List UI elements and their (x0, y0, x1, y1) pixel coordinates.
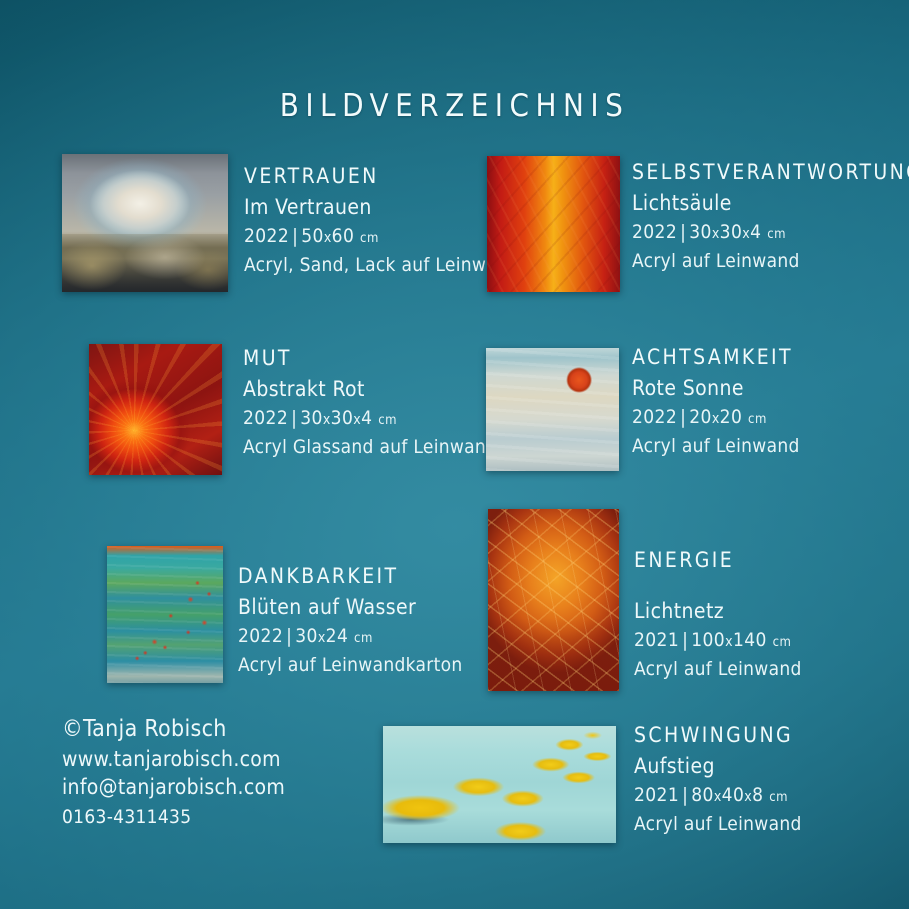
artwork-title: ENERGIE (634, 549, 802, 571)
page-title: BILDVERZEICHNIS (0, 88, 909, 124)
artwork-subtitle: Rote Sonne (632, 377, 800, 399)
red-sun-painting (486, 348, 619, 471)
artwork-year: 2021 (634, 629, 679, 651)
dimension-separator: | (288, 407, 300, 429)
artwork-subtitle: Blüten auf Wasser (238, 596, 463, 618)
dimension-times-2: x (744, 789, 752, 805)
dimension-times-1: x (712, 411, 720, 427)
artwork-dimensions: 2021|100x140 cm (634, 631, 802, 651)
dimension-separator: | (289, 225, 301, 247)
artwork-dimensions: 2022|30x30x4 cm (243, 409, 497, 429)
artwork-image-schwingung[interactable] (383, 726, 616, 843)
artwork-subtitle: Im Vertrauen (244, 196, 519, 218)
artwork-image-selbstverantwortung[interactable] (487, 156, 620, 292)
artwork-year: 2022 (243, 407, 288, 429)
artwork-title: DANKBARKEIT (238, 565, 463, 587)
phone-number[interactable]: 0163-4311435 (62, 808, 285, 827)
artwork-year: 2022 (244, 225, 289, 247)
dimension-unit: cm (769, 790, 788, 805)
dimension-times-2: x (742, 226, 750, 242)
dimension-unit: cm (378, 413, 397, 428)
artwork-material: Acryl auf Leinwandkarton (238, 656, 463, 676)
artwork-subtitle: Lichtnetz (634, 600, 802, 622)
website-link[interactable]: www.tanjarobisch.com (62, 749, 285, 770)
artwork-caption-selbstverantwortung: SELBSTVERANTWORTUNG Lichtsäule 2022|30x3… (632, 161, 909, 272)
dimension-a: 100 (691, 629, 725, 651)
artwork-year: 2022 (632, 221, 677, 243)
red-burst-painting (89, 344, 222, 475)
artwork-caption-dankbarkeit: DANKBARKEIT Blüten auf Wasser 2022|30x24… (238, 565, 463, 676)
dimension-b: 140 (733, 629, 767, 651)
contact-block: ©Tanja Robisch www.tanjarobisch.com info… (62, 718, 285, 827)
dimension-c: 4 (750, 221, 761, 243)
dimension-times-1: x (725, 634, 733, 650)
dimension-b: 30 (720, 221, 743, 243)
artwork-material: Acryl auf Leinwand (634, 815, 802, 835)
dimension-separator: | (679, 629, 691, 651)
artwork-caption-vertrauen: VERTRAUEN Im Vertrauen 2022|50x60 cm Acr… (244, 165, 519, 276)
artwork-material: Acryl auf Leinwand (634, 660, 802, 680)
artwork-material: Acryl Glassand auf Leinwand (243, 438, 497, 458)
red-golden-column-painting (487, 156, 620, 292)
dimension-times-1: x (323, 412, 331, 428)
artwork-image-dankbarkeit[interactable] (107, 546, 223, 683)
dimension-b: 30 (331, 407, 354, 429)
dimension-times-1: x (714, 789, 722, 805)
dimension-separator: | (679, 784, 691, 806)
artwork-title: ACHTSAMKEIT (632, 346, 800, 368)
artwork-index-poster: BILDVERZEICHNIS VERTRAUEN Im Vertrauen 2… (0, 0, 909, 909)
dimension-unit: cm (354, 631, 373, 646)
artwork-image-vertrauen[interactable] (62, 154, 228, 292)
artwork-dimensions: 2022|30x24 cm (238, 627, 463, 647)
artwork-caption-schwingung: SCHWINGUNG Aufstieg 2021|80x40x8 cm Acry… (634, 724, 802, 835)
dimension-a: 80 (691, 784, 714, 806)
artwork-dimensions: 2022|20x20 cm (632, 408, 800, 428)
email-link[interactable]: info@tanjarobisch.com (62, 777, 285, 798)
dimension-b: 24 (326, 625, 349, 647)
dimension-b: 60 (332, 225, 355, 247)
artist-name: ©Tanja Robisch (62, 718, 285, 741)
artwork-subtitle: Aufstieg (634, 755, 802, 777)
artwork-caption-energie: ENERGIE Lichtnetz 2021|100x140 cm Acryl … (634, 549, 802, 680)
dimension-b: 20 (720, 406, 743, 428)
dimension-separator: | (677, 221, 689, 243)
artwork-dimensions: 2022|50x60 cm (244, 227, 519, 247)
blossoms-on-water-painting (107, 546, 223, 683)
artwork-title: SCHWINGUNG (634, 724, 802, 746)
dimension-a: 20 (689, 406, 712, 428)
artwork-material: Acryl auf Leinwand (632, 437, 800, 457)
artwork-subtitle: Abstrakt Rot (243, 378, 497, 400)
dimension-times-1: x (324, 230, 332, 246)
artwork-image-achtsamkeit[interactable] (486, 348, 619, 471)
dimension-separator: | (677, 406, 689, 428)
artwork-dimensions: 2021|80x40x8 cm (634, 786, 802, 806)
dimension-times-2: x (353, 412, 361, 428)
dimension-times-1: x (712, 226, 720, 242)
artwork-caption-mut: MUT Abstrakt Rot 2022|30x30x4 cm Acryl G… (243, 347, 497, 458)
artwork-title: SELBSTVERANTWORTUNG (632, 161, 909, 183)
artwork-dimensions: 2022|30x30x4 cm (632, 223, 909, 243)
dimension-a: 30 (689, 221, 712, 243)
dimension-unit: cm (773, 635, 792, 650)
dimension-separator: | (283, 625, 295, 647)
dimension-c: 8 (752, 784, 763, 806)
artwork-caption-achtsamkeit: ACHTSAMKEIT Rote Sonne 2022|20x20 cm Acr… (632, 346, 800, 457)
dimension-times-1: x (318, 630, 326, 646)
dimension-a: 50 (301, 225, 324, 247)
dimension-b: 40 (722, 784, 745, 806)
artwork-title: MUT (243, 347, 497, 369)
artwork-year: 2021 (634, 784, 679, 806)
artwork-title: VERTRAUEN (244, 165, 519, 187)
dimension-a: 30 (295, 625, 318, 647)
artwork-material: Acryl, Sand, Lack auf Leinwand (244, 256, 519, 276)
orange-light-net-painting (488, 509, 619, 691)
artwork-subtitle: Lichtsäule (632, 192, 909, 214)
yellow-lilypads-painting (383, 726, 616, 843)
artwork-year: 2022 (632, 406, 677, 428)
dimension-unit: cm (767, 227, 786, 242)
moon-over-landscape-painting (62, 154, 228, 292)
dimension-a: 30 (300, 407, 323, 429)
dimension-c: 4 (361, 407, 372, 429)
artwork-image-energie[interactable] (488, 509, 619, 691)
artwork-year: 2022 (238, 625, 283, 647)
dimension-unit: cm (360, 231, 379, 246)
artwork-image-mut[interactable] (89, 344, 222, 475)
artwork-material: Acryl auf Leinwand (632, 252, 909, 272)
dimension-unit: cm (748, 412, 767, 427)
